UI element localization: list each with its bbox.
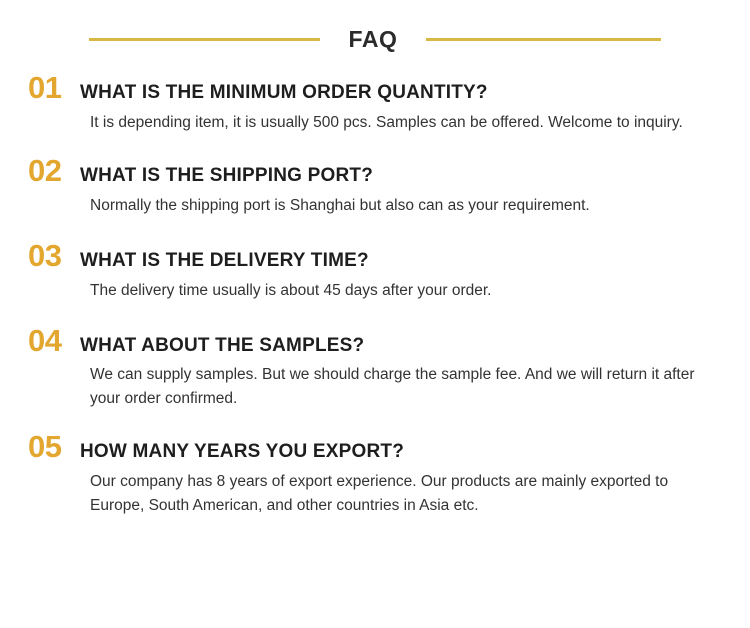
divider-right-icon [426, 38, 661, 41]
faq-item-question: WHAT ABOUT THE SAMPLES? [80, 335, 726, 357]
faq-item: 02 WHAT IS THE SHIPPING PORT? Normally t… [0, 155, 750, 218]
faq-item-answer: Our company has 8 years of export experi… [90, 470, 726, 518]
faq-item-number: 01 [28, 72, 80, 103]
faq-item-question: WHAT IS THE SHIPPING PORT? [80, 165, 726, 187]
faq-list: 01 WHAT IS THE MINIMUM ORDER QUANTITY? I… [0, 56, 750, 518]
faq-item-answer: The delivery time usually is about 45 da… [90, 279, 726, 303]
page-title: FAQ [348, 28, 397, 51]
faq-item-answer: Normally the shipping port is Shanghai b… [90, 194, 726, 218]
faq-item-question: WHAT IS THE MINIMUM ORDER QUANTITY? [80, 82, 726, 104]
faq-item: 03 WHAT IS THE DELIVERY TIME? The delive… [0, 240, 750, 303]
faq-item: 04 WHAT ABOUT THE SAMPLES? We can supply… [0, 325, 750, 412]
faq-item: 01 WHAT IS THE MINIMUM ORDER QUANTITY? I… [0, 72, 750, 135]
faq-item-number: 05 [28, 431, 80, 462]
faq-question-row: 03 WHAT IS THE DELIVERY TIME? [28, 240, 726, 272]
faq-header: FAQ [0, 0, 750, 56]
faq-item-answer: It is depending item, it is usually 500 … [90, 111, 726, 135]
faq-question-row: 04 WHAT ABOUT THE SAMPLES? [28, 325, 726, 357]
faq-item-question: WHAT IS THE DELIVERY TIME? [80, 250, 726, 272]
faq-question-row: 05 HOW MANY YEARS YOU EXPORT? [28, 431, 726, 463]
faq-item-answer: We can supply samples. But we should cha… [90, 363, 726, 411]
faq-page: FAQ 01 WHAT IS THE MINIMUM ORDER QUANTIT… [0, 0, 750, 628]
faq-question-row: 02 WHAT IS THE SHIPPING PORT? [28, 155, 726, 187]
faq-item-number: 03 [28, 240, 80, 271]
faq-question-row: 01 WHAT IS THE MINIMUM ORDER QUANTITY? [28, 72, 726, 104]
faq-item-number: 02 [28, 155, 80, 186]
faq-item-number: 04 [28, 325, 80, 356]
divider-left-icon [89, 38, 320, 41]
faq-item: 05 HOW MANY YEARS YOU EXPORT? Our compan… [0, 431, 750, 518]
faq-item-question: HOW MANY YEARS YOU EXPORT? [80, 441, 726, 463]
